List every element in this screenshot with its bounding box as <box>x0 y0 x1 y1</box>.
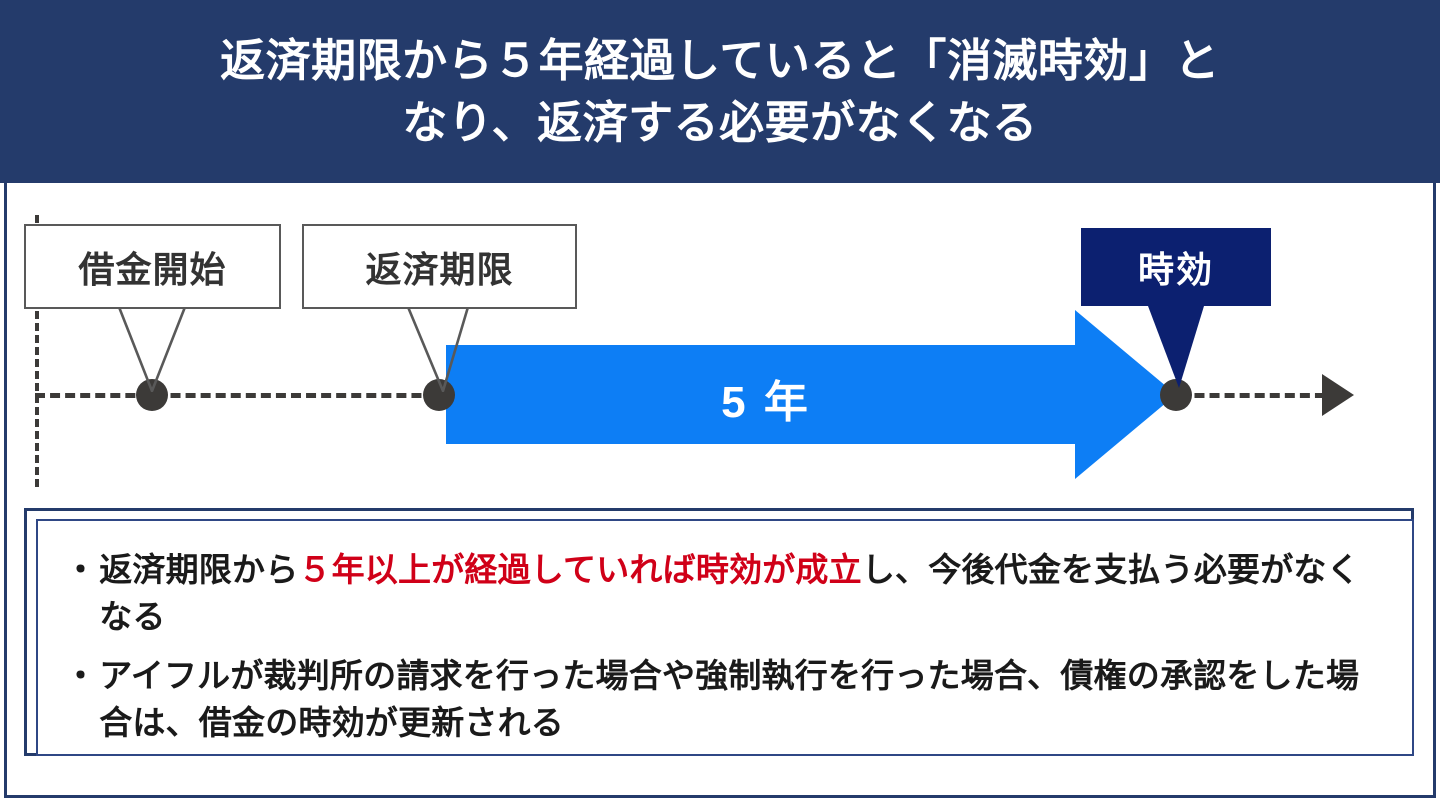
callout-loan-start: 借金開始 <box>24 224 281 309</box>
note-segment: 返済期限から <box>99 551 298 588</box>
expiry-badge-label: 時効 <box>1138 241 1214 293</box>
note-segment: アイフルが裁判所の請求を行った場合や強制執行を行った場合、債権の承認をした場合は… <box>99 657 1359 741</box>
callout-repayment-due-label: 返済期限 <box>365 241 513 293</box>
note-segment-highlight: ５年以上が経過していれば時効が成立 <box>298 551 861 588</box>
callout-loan-start-tail-icon <box>117 307 189 392</box>
list-bullet: ・ <box>64 653 97 700</box>
list-item: ・ 返済期限から５年以上が経過していれば時効が成立し、今後代金を支払う必要がなく… <box>64 547 1386 641</box>
timeline-arrow-icon <box>1322 374 1354 416</box>
header-band: 返済期限から５年経過していると「消滅時効」と なり、返済する必要がなくなる <box>0 0 1440 183</box>
callout-repayment-due-tail-icon <box>406 307 478 392</box>
expiry-badge: 時効 <box>1081 228 1271 306</box>
infographic-canvas: 返済期限から５年経過していると「消滅時効」と なり、返済する必要がなくなる 5 … <box>0 0 1440 802</box>
expiry-badge-tail-icon <box>1148 306 1204 388</box>
note-text-1: 返済期限から５年以上が経過していれば時効が成立し、今後代金を支払う必要がなくなる <box>99 547 1386 641</box>
list-item: ・ アイフルが裁判所の請求を行った場合や強制執行を行った場合、債権の承認をした場… <box>64 653 1386 747</box>
callout-loan-start-label: 借金開始 <box>78 241 226 293</box>
five-year-duration-arrow <box>446 306 1176 483</box>
note-text-2: アイフルが裁判所の請求を行った場合や強制執行を行った場合、債権の承認をした場合は… <box>99 653 1386 747</box>
callout-repayment-due: 返済期限 <box>302 224 577 309</box>
page-title: 返済期限から５年経過していると「消滅時効」と なり、返済する必要がなくなる <box>0 30 1440 154</box>
list-bullet: ・ <box>64 547 97 594</box>
notes-box: ・ 返済期限から５年以上が経過していれば時効が成立し、今後代金を支払う必要がなく… <box>36 519 1414 756</box>
